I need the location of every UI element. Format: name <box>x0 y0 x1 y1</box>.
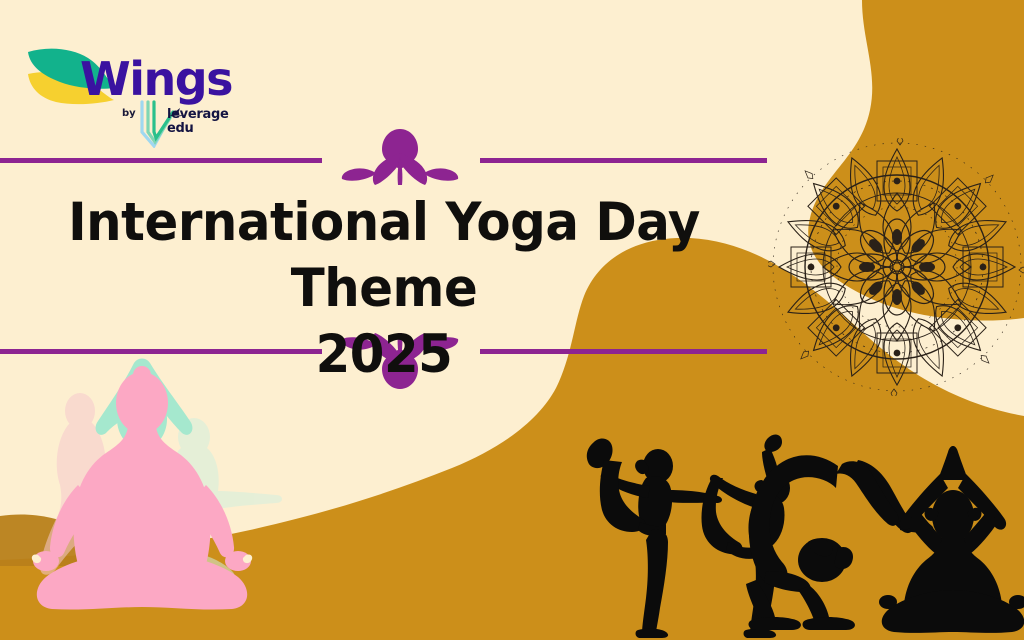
title-line-1: International Yoga Day Theme <box>23 190 745 322</box>
poster-canvas: Wings by leverage edu I <box>0 0 1024 640</box>
yoga-figures-pastel-group <box>10 355 310 640</box>
divider-rule-top-left <box>0 158 322 163</box>
yoga-silhouette-lotus <box>879 446 1024 633</box>
divider-rule-top-right <box>480 158 767 163</box>
wings-logo[interactable]: Wings by leverage edu <box>22 30 232 148</box>
logo-sub-brand-line2: edu <box>167 122 228 136</box>
mandala-icon <box>768 138 1024 396</box>
yoga-silhouette-dancer-left <box>587 439 722 638</box>
logo-brand-text: Wings <box>80 56 232 102</box>
yoga-silhouette-dancer-right <box>701 435 790 638</box>
logo-sub-brand: leverage edu <box>167 108 228 136</box>
yoga-silhouettes-group <box>570 430 1024 640</box>
mandala-graphic <box>768 138 1024 396</box>
logo-by-label: by <box>122 108 136 119</box>
logo-sub-brand-line1: leverage <box>167 108 228 122</box>
floral-ornament-top-icon <box>340 127 460 193</box>
